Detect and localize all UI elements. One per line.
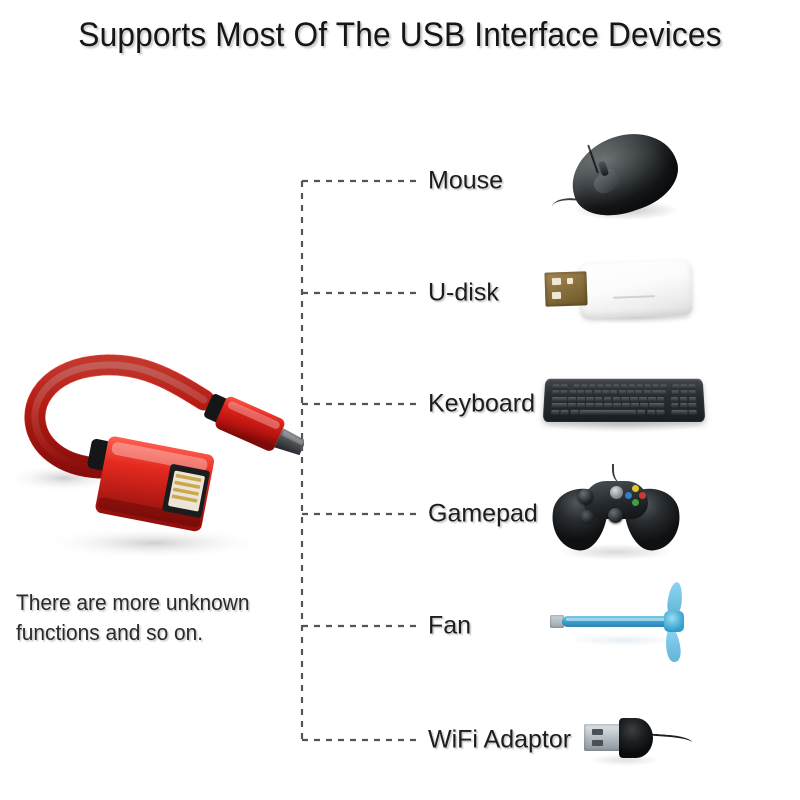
fan-shadow	[568, 634, 678, 646]
keyboard-key-row	[551, 409, 697, 414]
cable-drop-shadow	[39, 527, 269, 559]
u-disk-contact	[552, 278, 561, 285]
keyboard-key-row	[552, 397, 696, 402]
device-label-mouse: Mouse	[428, 167, 503, 196]
u-disk-contact	[567, 278, 573, 284]
gamepad-button-a	[632, 499, 639, 506]
infographic-canvas: Supports Most Of The USB Interface Devic…	[0, 0, 800, 800]
usb-flash-drive-icon	[535, 254, 700, 326]
keyboard-key-row	[552, 403, 697, 408]
gamepad-guide-button	[610, 486, 623, 499]
device-label-gamepad: Gamepad	[428, 500, 538, 529]
gamepad-button-y	[632, 485, 639, 492]
device-label-fan: Fan	[428, 612, 471, 641]
wifi-adaptor-body	[619, 718, 653, 758]
gamepad-button-b	[639, 492, 646, 499]
micro-usb-male-connector	[201, 389, 304, 463]
usb-otg-cable-illustration	[4, 338, 304, 568]
gamepad-right-stick	[608, 508, 623, 523]
keyboard-key-row	[553, 384, 696, 389]
product-caption: There are more unknown functions and so …	[16, 588, 292, 648]
wifi-adaptor-antenna	[650, 734, 693, 747]
keyboard-key-row	[552, 391, 696, 396]
wifi-adaptor-contact	[592, 729, 603, 735]
page-title: Supports Most Of The USB Interface Devic…	[28, 16, 772, 55]
fan-flexible-neck	[562, 616, 674, 627]
u-disk-contact	[552, 292, 561, 299]
usb-fan-icon	[548, 584, 708, 664]
gamepad-dpad	[580, 510, 594, 524]
u-disk-usb-plug	[544, 271, 587, 306]
u-disk-body	[579, 260, 693, 319]
gamepad-icon	[546, 464, 686, 560]
fan-hub	[664, 611, 684, 632]
product-image-usb-otg-cable	[4, 338, 304, 568]
device-label-wifi-adaptor: WiFi Adaptor	[428, 726, 571, 755]
wifi-dongle-icon	[578, 708, 698, 768]
mouse-icon	[552, 128, 702, 228]
fan-blade	[664, 627, 682, 662]
wifi-adaptor-usb-plug	[584, 724, 622, 751]
keyboard-spacebar	[580, 409, 636, 414]
keyboard-keys	[551, 384, 697, 413]
wifi-adaptor-contact	[592, 740, 603, 746]
gamepad-button-x	[625, 492, 632, 499]
gamepad-left-stick	[578, 489, 593, 504]
device-label-u-disk: U-disk	[428, 279, 499, 308]
device-label-keyboard: Keyboard	[428, 390, 535, 419]
keyboard-icon	[540, 370, 708, 434]
